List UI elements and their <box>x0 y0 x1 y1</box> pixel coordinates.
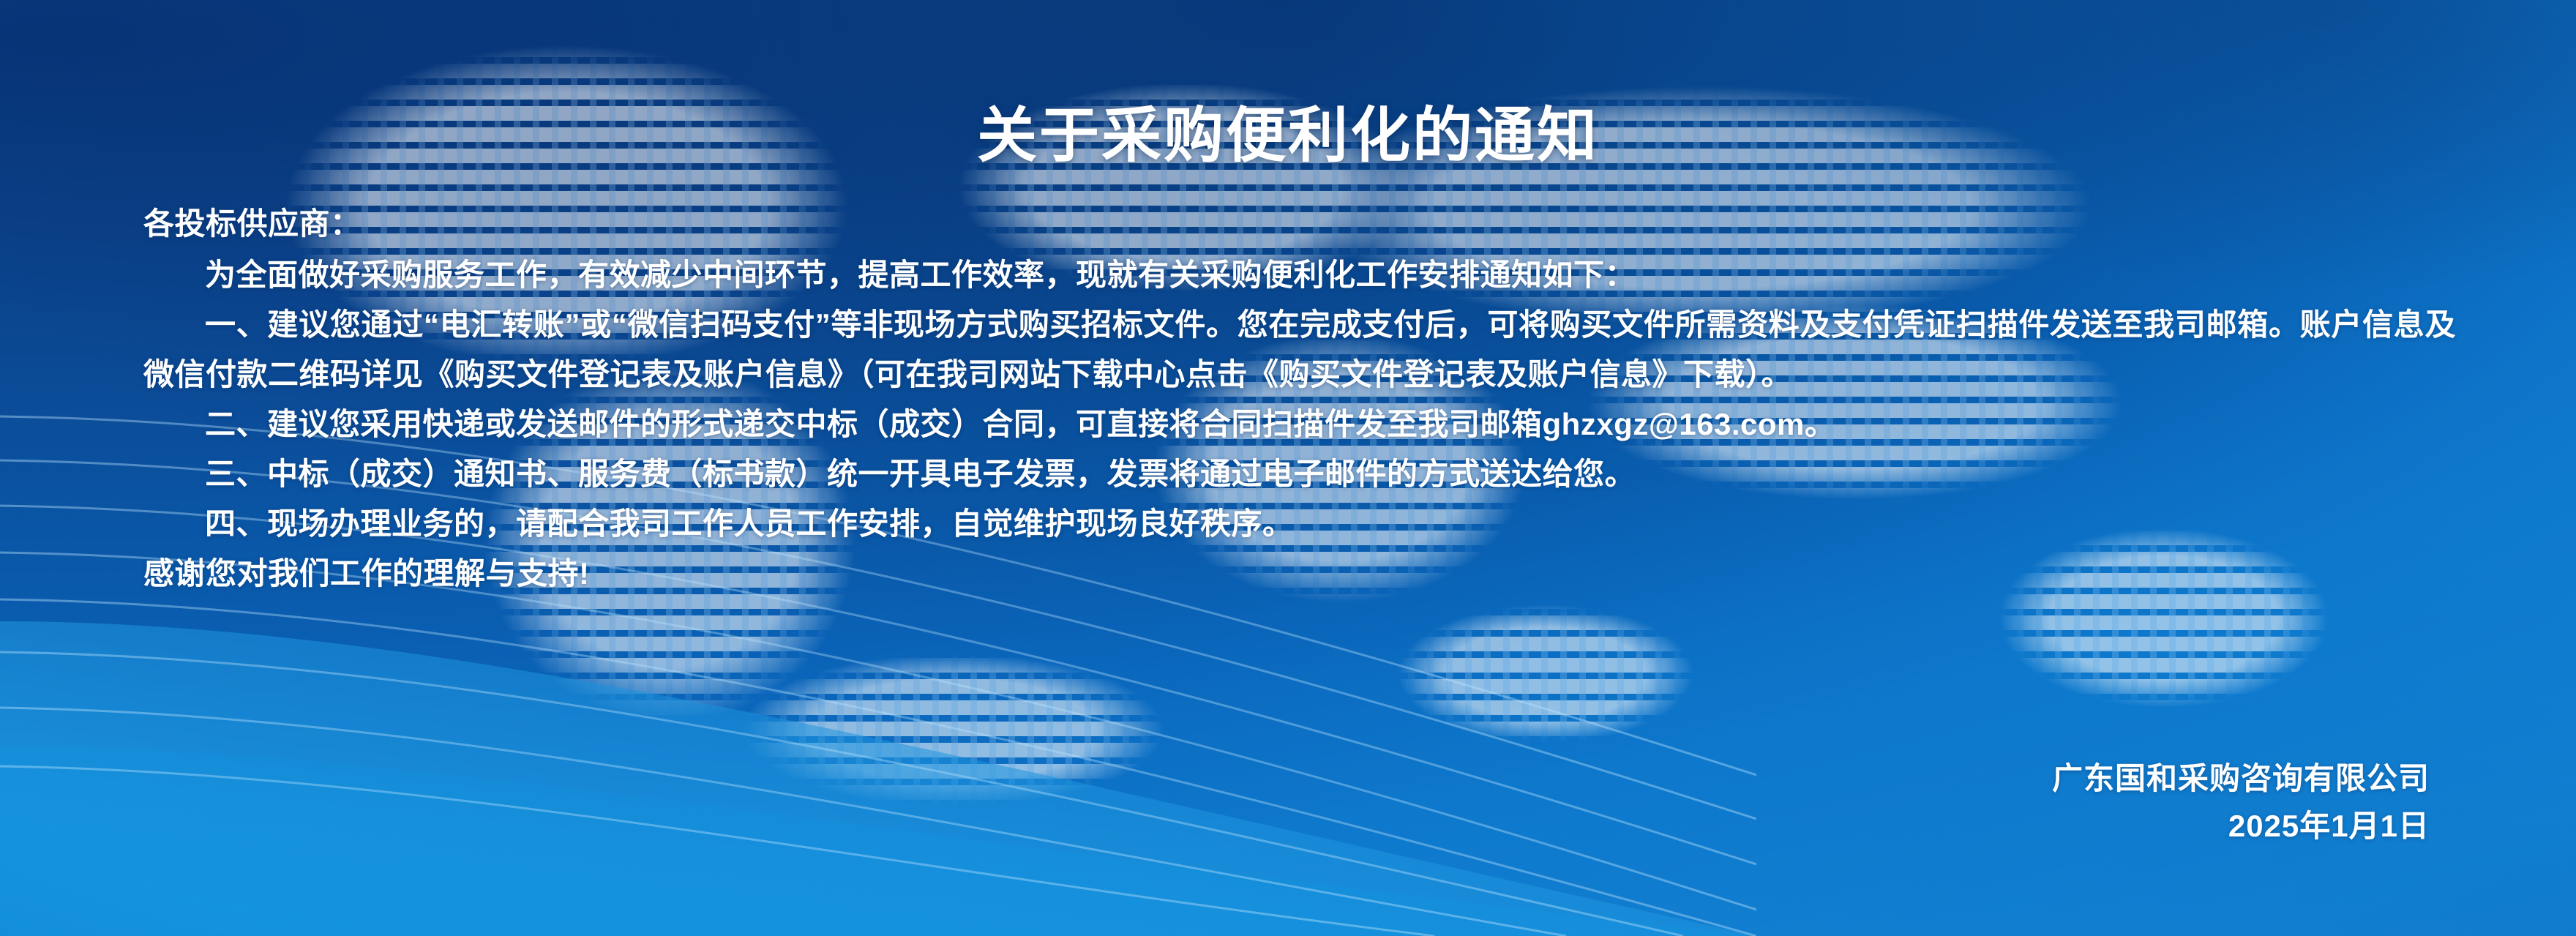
page-title: 关于采购便利化的通知 <box>0 105 2576 168</box>
notice-content: 关于采购便利化的通知 各投标供应商： 为全面做好采购服务工作，有效减少中间环节，… <box>0 0 2576 936</box>
closing-line: 感谢您对我们工作的理解与支持! <box>143 549 2456 599</box>
salutation: 各投标供应商： <box>143 199 2456 249</box>
paragraph-item-1: 一、建议您通过“电汇转账”或“微信扫码支付”等非现场方式购买招标文件。您在完成支… <box>143 300 2456 400</box>
paragraph-item-4: 四、现场办理业务的，请配合我司工作人员工作安排，自觉维护现场良好秩序。 <box>143 499 2456 549</box>
notice-body: 各投标供应商： 为全面做好采购服务工作，有效减少中间环节，提高工作效率，现就有关… <box>143 199 2456 599</box>
notice-banner: 关于采购便利化的通知 各投标供应商： 为全面做好采购服务工作，有效减少中间环节，… <box>0 0 2576 936</box>
paragraph-item-3: 三、中标（成交）通知书、服务费（标书款）统一开具电子发票，发票将通过电子邮件的方… <box>143 449 2456 499</box>
signature-company: 广东国和采购咨询有限公司 <box>2052 755 2430 802</box>
paragraph-item-2: 二、建议您采用快递或发送邮件的形式递交中标（成交）合同，可直接将合同扫描件发至我… <box>143 400 2456 449</box>
signature-block: 广东国和采购咨询有限公司 2025年1月1日 <box>2052 755 2430 850</box>
paragraph-intro: 为全面做好采购服务工作，有效减少中间环节，提高工作效率，现就有关采购便利化工作安… <box>143 250 2456 300</box>
signature-date: 2025年1月1日 <box>2052 802 2430 850</box>
